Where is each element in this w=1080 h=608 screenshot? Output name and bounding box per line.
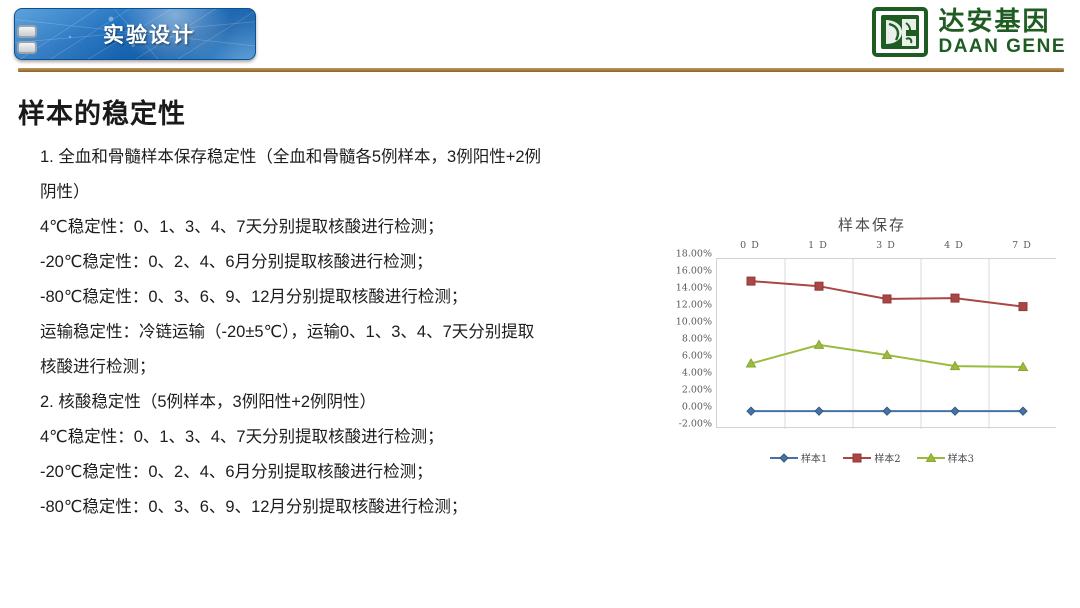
sample-storage-line-chart: 样本保存 0 D1 D3 D4 D7 D 18.00%16.00%14.00%1… — [672, 212, 1072, 484]
legend-marker-icon — [770, 453, 798, 463]
body-line: -20℃稳定性：0、2、4、6月分别提取核酸进行检测； — [40, 455, 680, 490]
section-banner-label: 实验设计 — [15, 9, 255, 59]
legend-item-样本2: 样本2 — [843, 450, 900, 465]
chart-y-tick-label: 14.00% — [676, 283, 712, 294]
body-line: 1. 全血和骨髓样本保存稳定性（全血和骨髓各5例样本，3例阳性+2例 — [40, 140, 680, 175]
company-logo: 达安基因 DAAN GENE — [872, 6, 1066, 58]
chart-y-tick-label: 6.00% — [682, 351, 712, 362]
body-line: -80℃稳定性：0、3、6、9、12月分别提取核酸进行检测； — [40, 280, 680, 315]
body-line: 阴性） — [40, 175, 680, 210]
daan-gene-logo-icon — [872, 6, 928, 58]
chart-y-tick-label: 10.00% — [676, 317, 712, 328]
body-line: 核酸进行检测； — [40, 350, 680, 385]
chart-x-axis-labels: 0 D1 D3 D4 D7 D — [716, 240, 1056, 258]
chart-y-tick-label: 18.00% — [676, 249, 712, 260]
legend-item-样本1: 样本1 — [770, 450, 827, 465]
body-line: 4℃稳定性：0、1、3、4、7天分别提取核酸进行检测； — [40, 210, 680, 245]
chart-y-tick-label: -2.00% — [679, 419, 712, 430]
page-title: 样本的稳定性 — [18, 92, 186, 131]
chart-legend: 样本1样本2样本3 — [672, 450, 1072, 465]
body-line: 2. 核酸稳定性（5例样本，3例阳性+2例阴性） — [40, 385, 680, 420]
chart-y-tick-label: 4.00% — [682, 368, 712, 379]
legend-label: 样本1 — [801, 450, 827, 465]
body-line: -80℃稳定性：0、3、6、9、12月分别提取核酸进行检测； — [40, 490, 680, 525]
chart-x-tick-label: 7 D — [1012, 240, 1032, 251]
slide-header: 实验设计 达安基因 DAAN GENE — [0, 0, 1080, 78]
chart-y-tick-label: 8.00% — [682, 334, 712, 345]
slide-body-text: 1. 全血和骨髓样本保存稳定性（全血和骨髓各5例样本，3例阳性+2例 阴性） 4… — [40, 140, 680, 525]
chart-series-样本3 — [747, 340, 1028, 370]
chart-x-tick-label: 3 D — [876, 240, 896, 251]
legend-label: 样本3 — [948, 450, 974, 465]
body-line: 运输稳定性：冷链运输（-20±5℃），运输0、1、3、4、7天分别提取 — [40, 315, 680, 350]
logo-text-cn: 达安基因 — [938, 8, 1066, 34]
section-banner: 实验设计 — [14, 8, 256, 60]
chart-y-tick-label: 16.00% — [676, 266, 712, 277]
body-line: 4℃稳定性：0、1、3、4、7天分别提取核酸进行检测； — [40, 420, 680, 455]
chart-y-tick-label: 0.00% — [682, 402, 712, 413]
chart-series-样本2 — [747, 277, 1027, 311]
legend-item-样本3: 样本3 — [917, 450, 974, 465]
legend-marker-icon — [917, 453, 945, 463]
legend-label: 样本2 — [874, 450, 900, 465]
header-divider — [18, 68, 1064, 72]
chart-series-样本1 — [747, 407, 1027, 415]
body-line: -20℃稳定性：0、2、4、6月分别提取核酸进行检测； — [40, 245, 680, 280]
chart-x-tick-label: 1 D — [808, 240, 828, 251]
chart-x-tick-label: 4 D — [944, 240, 964, 251]
chart-y-axis-labels: 18.00%16.00%14.00%12.00%10.00%8.00%6.00%… — [672, 254, 714, 432]
chart-title: 样本保存 — [672, 214, 1072, 235]
logo-text-en: DAAN GENE — [938, 37, 1066, 56]
chart-plot-area — [716, 258, 1056, 428]
chart-y-tick-label: 12.00% — [676, 300, 712, 311]
chart-x-tick-label: 0 D — [740, 240, 760, 251]
chart-y-tick-label: 2.00% — [682, 385, 712, 396]
legend-marker-icon — [843, 453, 871, 463]
